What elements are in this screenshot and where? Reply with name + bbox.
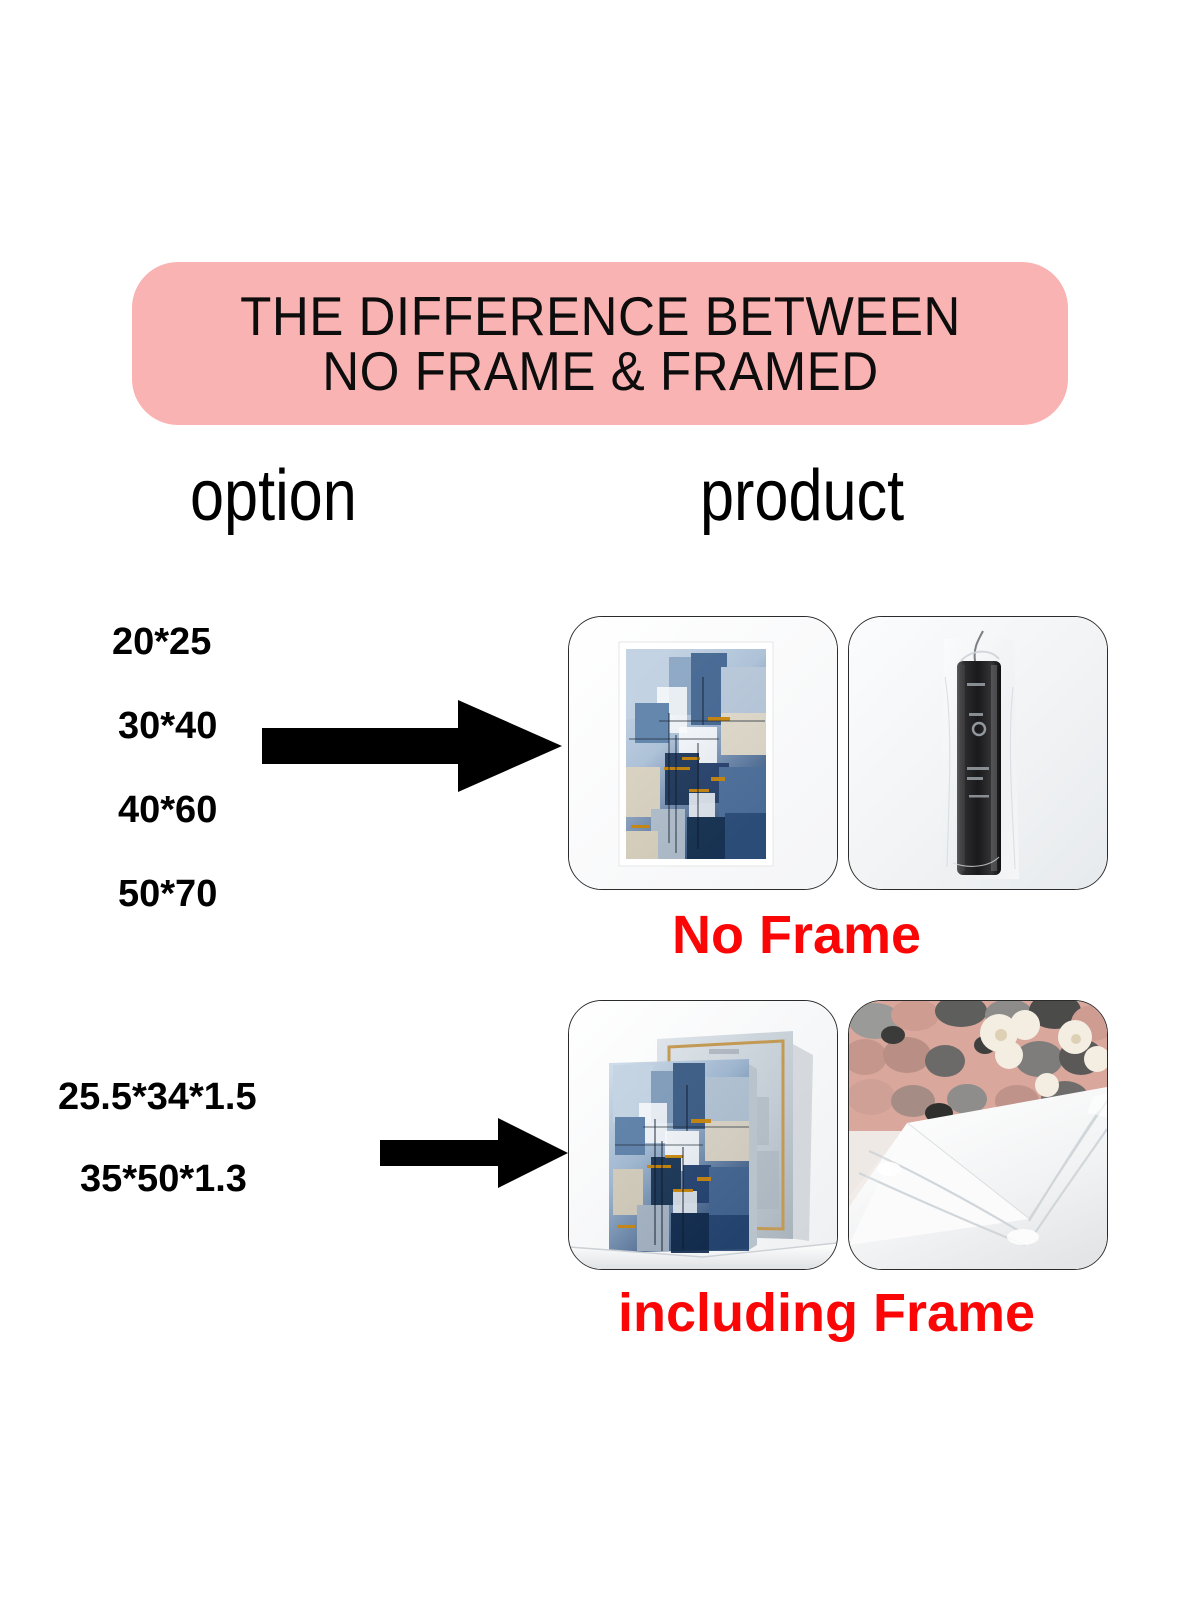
option-size-list-no-frame: 20*25 30*40 40*60 50*70 (112, 600, 217, 936)
framed-abstract-print-icon (569, 617, 837, 889)
plastic-wrapped-canvas-corner-icon (849, 1001, 1107, 1269)
caption-including-frame: including Frame (618, 1286, 1035, 1340)
option-size-list-including-frame: 25.5*34*1.5 35*50*1.3 (58, 1056, 257, 1220)
stretched-canvas-angled-icon (569, 1001, 837, 1269)
header-banner-title: THE DIFFERENCE BETWEEN NO FRAME & FRAMED (240, 289, 961, 399)
right-arrow-icon (262, 700, 562, 792)
size-option: 50*70 (112, 852, 217, 936)
product-image-card-rolled-poster (848, 616, 1108, 890)
header-banner: THE DIFFERENCE BETWEEN NO FRAME & FRAMED (132, 262, 1068, 425)
caption-no-frame: No Frame (672, 908, 921, 962)
product-image-card-plastic-wrap (848, 1000, 1108, 1270)
rolled-poster-tube-icon (849, 617, 1107, 889)
right-arrow-icon (380, 1118, 568, 1188)
size-option: 30*40 (112, 684, 217, 768)
product-image-card-framed-print (568, 616, 838, 890)
column-heading-product: product (700, 460, 904, 532)
column-heading-option: option (190, 460, 357, 532)
size-option: 40*60 (112, 768, 217, 852)
size-option: 20*25 (112, 600, 217, 684)
size-option: 25.5*34*1.5 (58, 1056, 257, 1138)
product-image-card-stretched-canvas (568, 1000, 838, 1270)
size-option: 35*50*1.3 (58, 1138, 257, 1220)
